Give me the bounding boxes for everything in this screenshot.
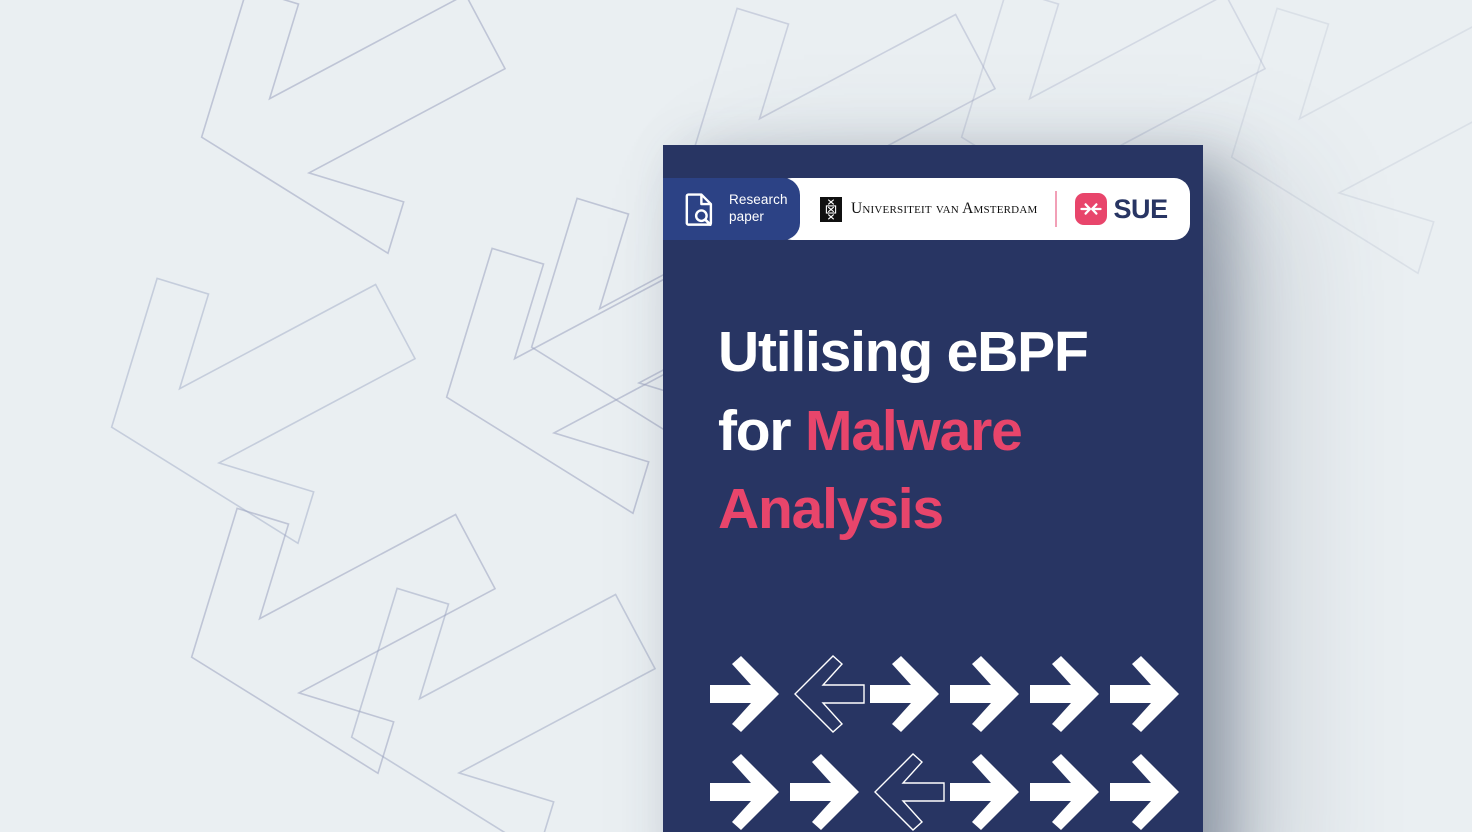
sue-logo[interactable]: SUE [1075, 193, 1167, 225]
arrow-right-solid-icon [947, 655, 1027, 733]
cover-title-line-2-accent: Malware [805, 399, 1022, 463]
cover-title-line-1: Utilising eBPF [718, 320, 1088, 384]
sue-wordmark: SUE [1113, 196, 1167, 223]
arrow-right-solid-icon [1027, 655, 1107, 733]
arrow-right-solid-icon [1107, 655, 1187, 733]
arrow-right-solid-icon [947, 753, 1027, 831]
research-paper-badge-label: Research paper [729, 192, 788, 226]
cover-card: Research paper Universiteit van Amsterda… [663, 145, 1203, 832]
arrow-left-outline-icon [787, 655, 867, 733]
cover-title-line-3-accent: Analysis [718, 477, 943, 541]
research-paper-badge[interactable]: Research paper [663, 178, 800, 240]
arrow-right-solid-icon [1107, 753, 1187, 831]
arrow-right-solid-icon [1027, 753, 1107, 831]
university-wordmark: Universiteit van Amsterdam [851, 200, 1037, 218]
arrow-motif-grid [707, 655, 1187, 831]
arrow-right-solid-icon [867, 655, 947, 733]
cover-title-line-2-white: for [718, 399, 805, 463]
cover-title: Utilising eBPFfor MalwareAnalysis [718, 313, 1168, 549]
arrow-right-solid-icon [707, 655, 787, 733]
arrow-right-solid-icon [707, 753, 787, 831]
arrow-motif-row [707, 655, 1187, 733]
partner-divider [1055, 191, 1057, 227]
arrow-motif-row [707, 753, 1187, 831]
arrow-left-outline-icon [867, 753, 947, 831]
arrow-right-solid-icon [787, 753, 867, 831]
sue-arrows-icon [1075, 193, 1107, 225]
cover-badge-bar: Research paper Universiteit van Amsterda… [663, 178, 1190, 240]
amsterdam-crest-icon [820, 197, 842, 222]
partners-panel: Universiteit van Amsterdam SUE [776, 178, 1190, 240]
university-of-amsterdam-logo[interactable]: Universiteit van Amsterdam [820, 197, 1037, 222]
document-search-icon [685, 193, 716, 226]
